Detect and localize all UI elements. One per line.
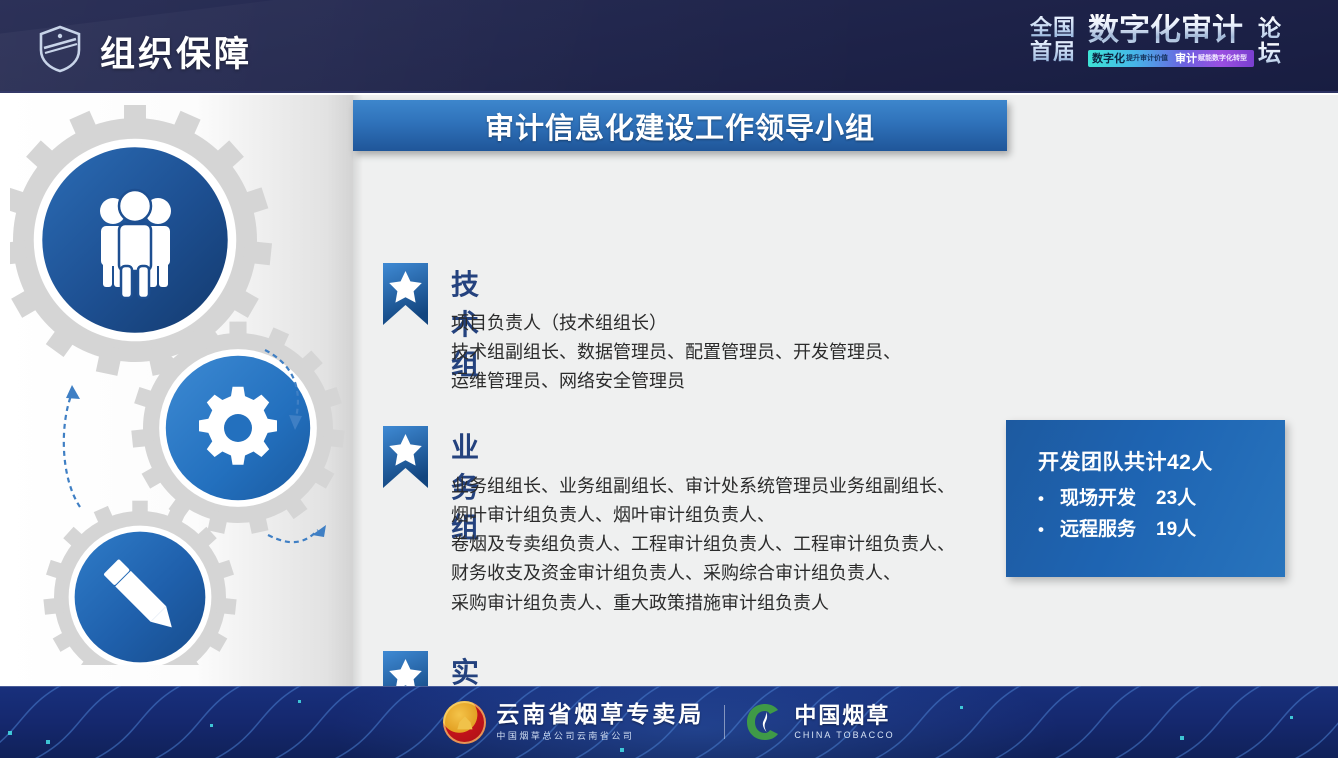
forum-logo-tagline-bar: 数字化 提升审计价值 审计 赋能数字化转型: [1088, 50, 1254, 67]
forum-logo-main-text: 数字化审计: [1088, 14, 1254, 47]
footer-org1-sub: 中国烟草总公司云南省公司: [496, 729, 704, 742]
footer-org2-name: 中国烟草: [794, 704, 894, 728]
forum-logo-left-line1: 全国: [1030, 16, 1084, 40]
forum-logo-middle: 数字化审计 数字化 提升审计价值 审计 赋能数字化转型: [1088, 14, 1254, 67]
group-line: 业务组组长、业务组副组长、审计处系统管理员业务组副组长、: [451, 472, 955, 501]
bookmark-star-icon: [383, 426, 428, 488]
forum-logo-left: 全国 首届: [1030, 16, 1084, 64]
forum-logo: 全国 首届 数字化审计 数字化 提升审计价值 审计 赋能数字化转型 论 坛: [1030, 14, 1298, 82]
china-tobacco-icon: [745, 702, 785, 742]
page-title: 组织保障: [100, 26, 252, 77]
group-line: 项目负责人（技术组组长）: [451, 309, 901, 338]
footer-org2-sub: CHINA TOBACCO: [794, 730, 894, 740]
header-bottom-rule: [0, 91, 1338, 93]
slide-footer: 云南省烟草专卖局 中国烟草总公司云南省公司 中国烟草 CHINA TOBACCO: [0, 686, 1338, 758]
team-summary-value: 19人: [1156, 514, 1196, 545]
section-title-banner: 审计信息化建设工作领导小组: [353, 100, 1007, 151]
bullet-icon: •: [1038, 485, 1060, 513]
bullet-icon: •: [1038, 516, 1060, 544]
group-line: 烟叶审计组负责人、烟叶审计组负责人、: [451, 501, 955, 530]
slide-header: 组织保障 全国 首届 数字化审计 数字化 提升审计价值 审计 赋能数字化转型 论…: [0, 0, 1338, 93]
team-summary-title: 开发团队共计42人: [1038, 446, 1285, 476]
footer-org2: 中国烟草 CHINA TOBACCO: [794, 704, 894, 740]
forum-logo-right-line2: 坛: [1258, 41, 1298, 66]
bookmark-star-icon: [383, 263, 428, 325]
slide-body: 审计信息化建设工作领导小组 技术组 项目负责人（技术组组长） 技术组副组长、数据…: [0, 95, 1338, 686]
forum-logo-left-line2: 首届: [1030, 40, 1084, 64]
tagline-1-sub: 提升审计价值: [1126, 53, 1168, 63]
footer-org1: 云南省烟草专卖局 中国烟草总公司云南省公司: [496, 702, 704, 742]
footer-org1-name: 云南省烟草专卖局: [496, 702, 704, 727]
team-summary-value: 23人: [1156, 483, 1196, 514]
gears-illustration: [10, 105, 350, 665]
team-summary-box: 开发团队共计42人 • 现场开发 23人 • 远程服务 19人: [1006, 420, 1285, 577]
national-emblem-icon: [443, 701, 486, 744]
tagline-2-sub: 赋能数字化转型: [1198, 53, 1247, 63]
group-lines-business: 业务组组长、业务组副组长、审计处系统管理员业务组副组长、 烟叶审计组负责人、烟叶…: [451, 472, 955, 618]
team-summary-label: 现场开发: [1060, 483, 1156, 514]
group-line: 技术组副组长、数据管理员、配置管理员、开发管理员、: [451, 338, 901, 367]
forum-logo-right: 论 坛: [1258, 16, 1298, 67]
tagline-2: 审计: [1175, 50, 1197, 66]
group-line: 财务收支及资金审计组负责人、采购综合审计组负责人、: [451, 559, 955, 588]
tagline-1: 数字化: [1092, 50, 1125, 66]
group-lines-technical: 项目负责人（技术组组长） 技术组副组长、数据管理员、配置管理员、开发管理员、 运…: [451, 309, 901, 396]
team-summary-item: • 现场开发 23人: [1038, 483, 1285, 514]
team-summary-item: • 远程服务 19人: [1038, 514, 1285, 545]
team-summary-label: 远程服务: [1060, 514, 1156, 545]
slide-root: 组织保障 全国 首届 数字化审计 数字化 提升审计价值 审计 赋能数字化转型 论…: [0, 0, 1338, 758]
group-line: 卷烟及专卖组负责人、工程审计组负责人、工程审计组负责人、: [451, 530, 955, 559]
shield-icon: [36, 24, 84, 74]
group-line: 采购审计组负责人、重大政策措施审计组负责人: [451, 589, 955, 618]
group-line: 运维管理员、网络安全管理员: [451, 367, 901, 396]
section-title-text: 审计信息化建设工作领导小组: [485, 105, 875, 147]
footer-divider: [724, 705, 725, 739]
footer-logos: 云南省烟草专卖局 中国烟草总公司云南省公司 中国烟草 CHINA TOBACCO: [0, 686, 1338, 758]
forum-logo-right-line1: 论: [1258, 16, 1298, 41]
